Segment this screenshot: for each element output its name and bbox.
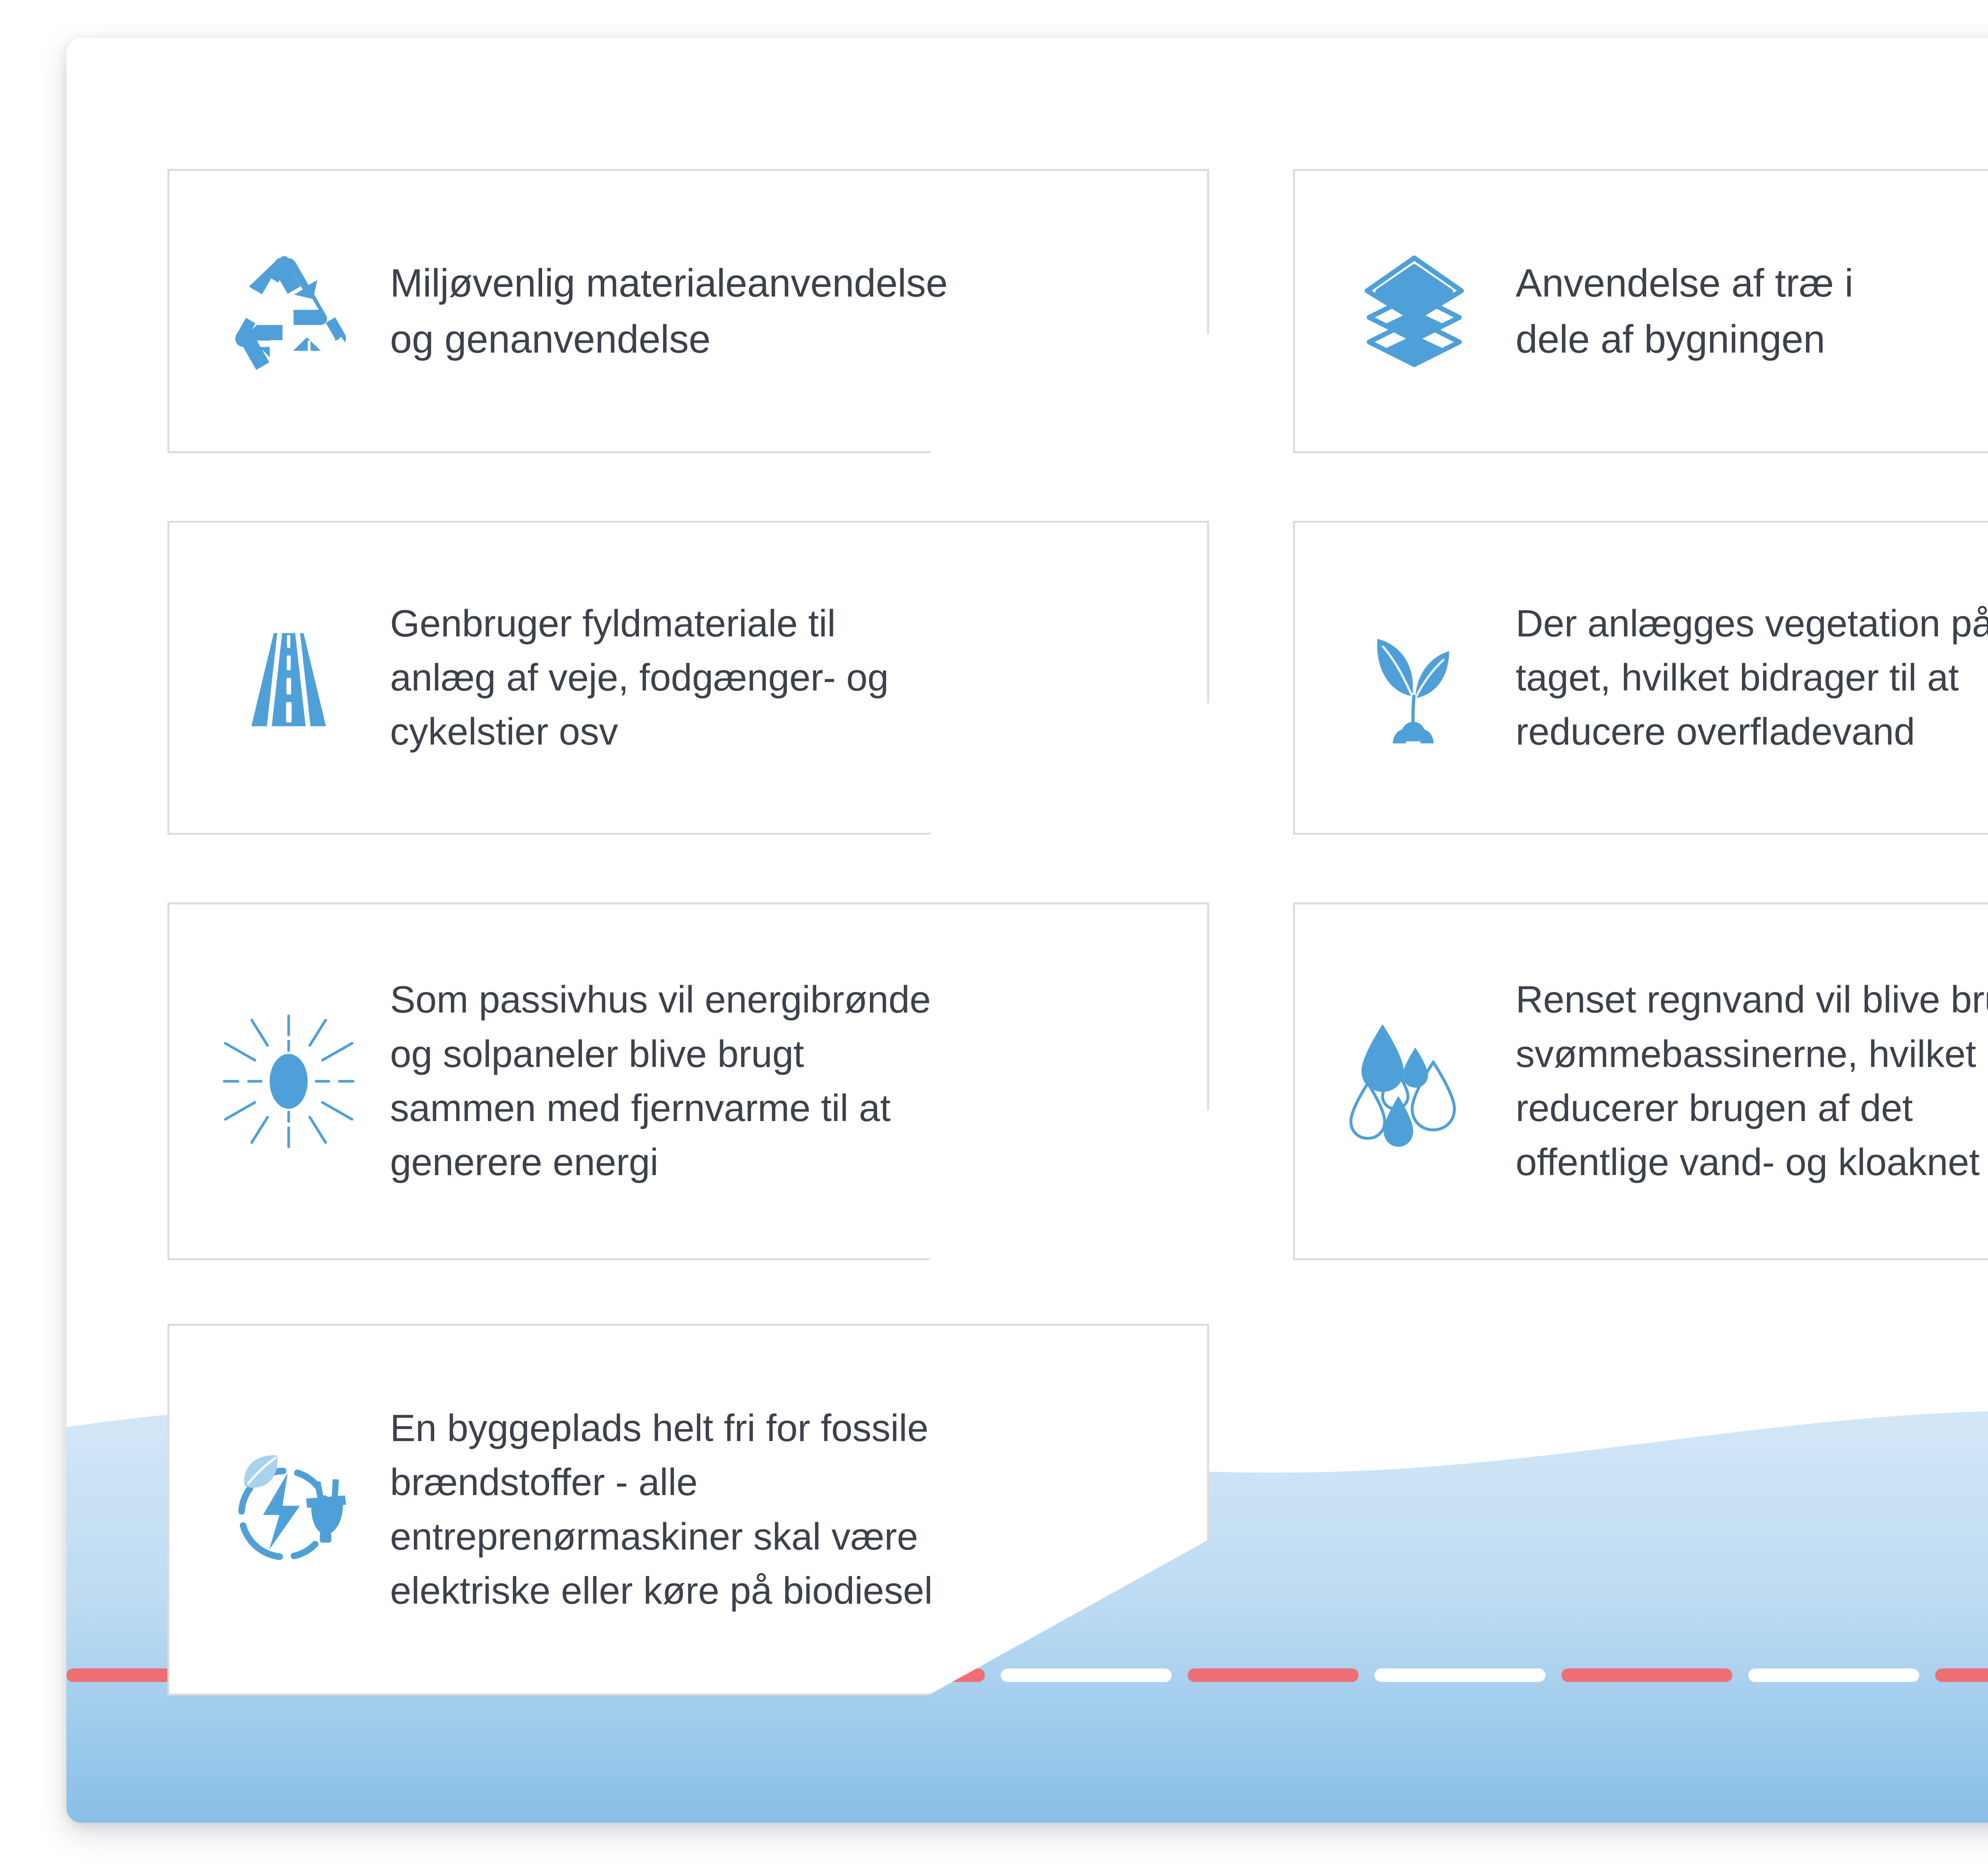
feature-card-fossil-free-site[interactable]: En byggeplads helt fri for fossile brænd… <box>167 1324 1209 1695</box>
card-label: Anvendelse af træ i dele af bygningen <box>1516 255 1988 367</box>
feature-card-passive-house[interactable]: Som passivhus vil energibrønde og solpan… <box>167 902 1209 1260</box>
card-label: Som passivhus vil energibrønde og solpan… <box>390 973 1207 1189</box>
feature-card-rainwater[interactable]: Renset regnvand vil blive brugt i svømme… <box>1293 902 1988 1260</box>
slide-canvas: Miljøvenlig materialeanvendelse og genan… <box>66 38 1988 1823</box>
card-label: Miljøvenlig materialeanvendelse og genan… <box>390 255 1207 367</box>
feature-card-recycling[interactable]: Miljøvenlig materialeanvendelse og genan… <box>167 169 1209 453</box>
water-drops-icon <box>1329 1014 1500 1149</box>
feature-card-fill-material[interactable]: Genbruger fyldmateriale til anlæg af vej… <box>167 521 1209 835</box>
card-label: Der anlægges vegetation på taget, hvilke… <box>1516 597 1988 759</box>
sun-icon <box>203 1014 374 1149</box>
eco-plug-icon <box>203 1444 374 1575</box>
feature-card-green-roof[interactable]: Der anlægges vegetation på taget, hvilke… <box>1293 521 1988 835</box>
card-label: En byggeplads helt fri for fossile brænd… <box>390 1401 1207 1618</box>
sprout-icon <box>1329 612 1500 743</box>
recycle-icon <box>203 246 374 377</box>
layers-icon <box>1329 246 1500 377</box>
road-icon <box>203 618 374 737</box>
feature-card-timber[interactable]: Anvendelse af træ i dele af bygningen <box>1293 169 1988 453</box>
card-label: Renset regnvand vil blive brugt i svømme… <box>1516 973 1988 1189</box>
card-label: Genbruger fyldmateriale til anlæg af vej… <box>390 597 1207 759</box>
